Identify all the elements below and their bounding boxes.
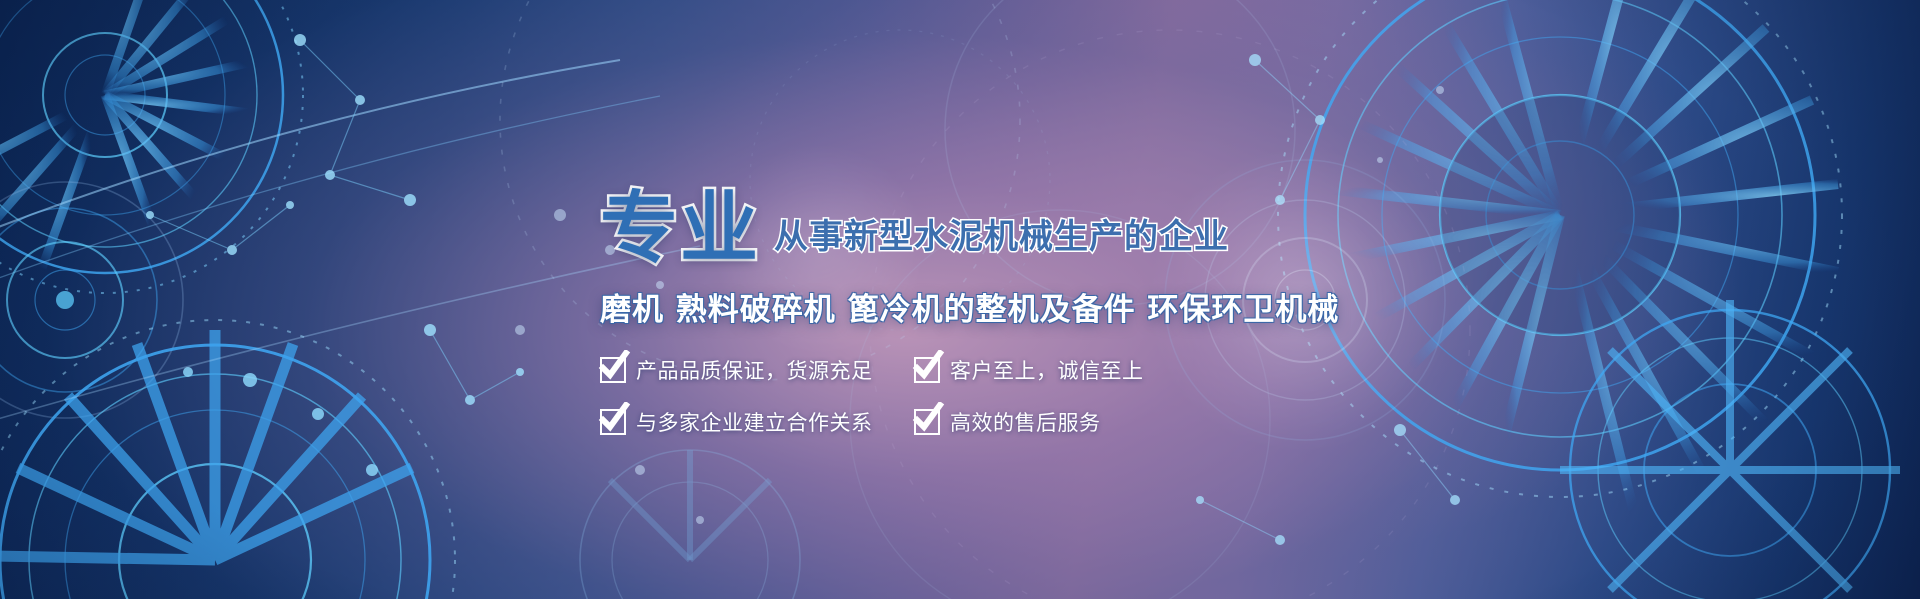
headline-row: 专业 从事新型水泥机械生产的企业: [600, 182, 1360, 266]
list-item-label: 高效的售后服务: [950, 407, 1101, 437]
list-item-label: 与多家企业建立合作关系: [636, 407, 873, 437]
list-item: 客户至上，诚信至上: [914, 355, 1360, 385]
checkmark-icon: [600, 357, 626, 383]
list-item: 高效的售后服务: [914, 407, 1360, 437]
banner-content: 专业 从事新型水泥机械生产的企业 磨机 熟料破碎机 篦冷机的整机及备件 环保环卫…: [600, 182, 1360, 437]
checkmark-icon: [914, 357, 940, 383]
list-item-label: 产品品质保证，货源充足: [636, 355, 873, 385]
list-item: 产品品质保证，货源充足: [600, 355, 900, 385]
hero-banner: 专业 从事新型水泥机械生产的企业 磨机 熟料破碎机 篦冷机的整机及备件 环保环卫…: [0, 0, 1920, 599]
feature-bullet-list: 产品品质保证，货源充足 客户至上，诚信至上 与多家企业建立合作关系 高效的售后服…: [600, 355, 1360, 437]
checkmark-icon: [600, 409, 626, 435]
list-item-label: 客户至上，诚信至上: [950, 355, 1144, 385]
page-title: 专业: [600, 194, 760, 266]
list-item: 与多家企业建立合作关系: [600, 407, 900, 437]
checkmark-icon: [914, 409, 940, 435]
headline-subtitle: 从事新型水泥机械生产的企业: [774, 209, 1229, 266]
product-list-line: 磨机 熟料破碎机 篦冷机的整机及备件 环保环卫机械: [600, 284, 1360, 329]
